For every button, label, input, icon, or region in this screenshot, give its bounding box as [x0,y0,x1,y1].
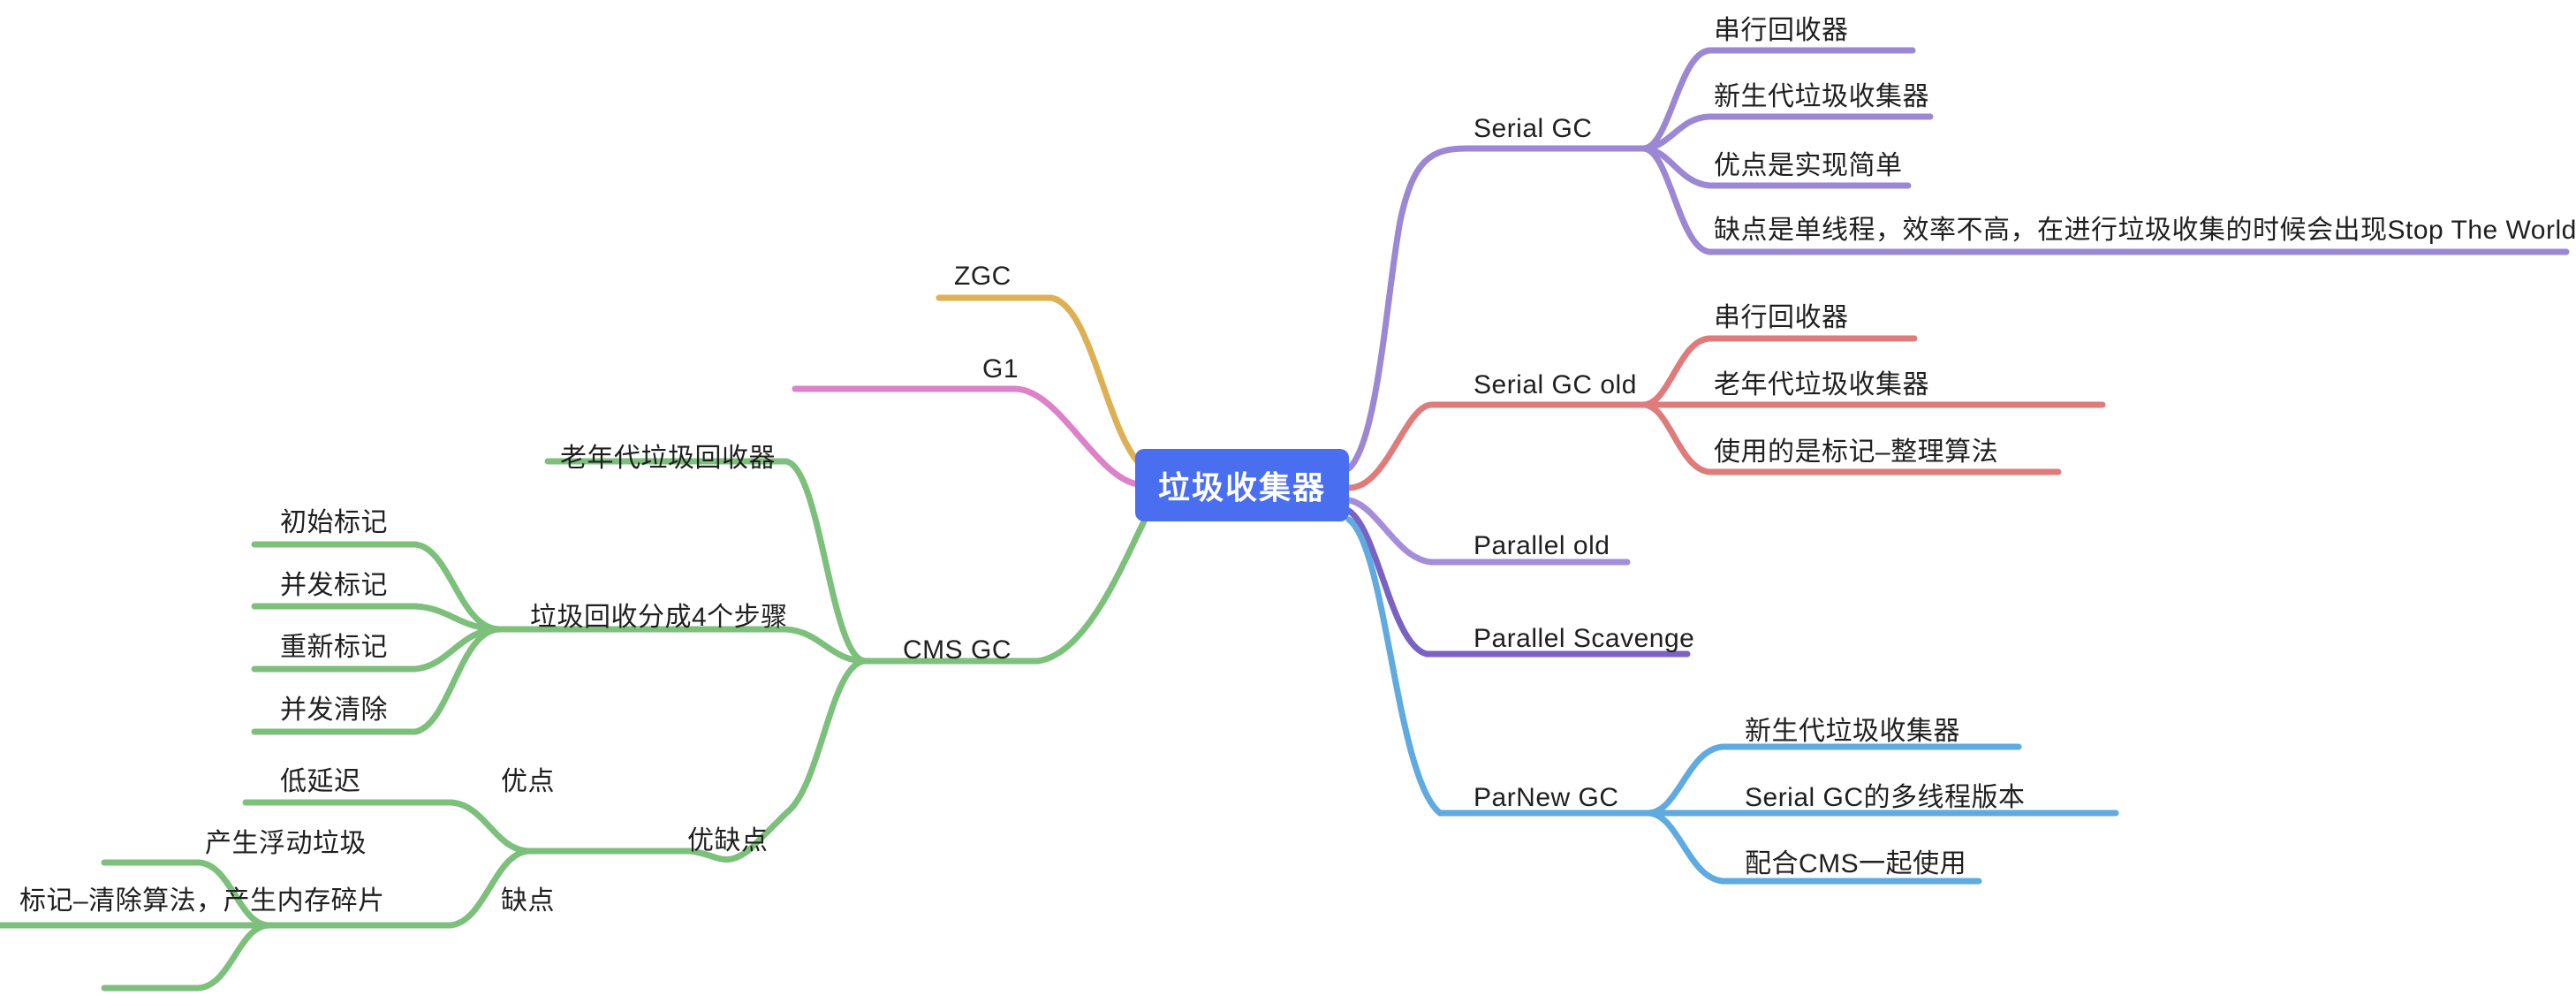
node-pros[interactable]: 优点 [501,769,555,795]
node-cms-gc-child-2[interactable]: 优缺点 [687,828,769,855]
node-parnew-gc-child-0[interactable]: 新生代垃圾收集器 [1745,718,1960,745]
edge-cons-children [0,863,269,988]
node-serial-gc-old-child-0[interactable]: 串行回收器 [1714,305,1849,331]
root-node-label: 垃圾收集器 [1158,462,1326,508]
node-parallel-old[interactable]: Parallel old [1474,533,1610,559]
node-cms-step-2[interactable]: 重新标记 [280,635,388,661]
node-serial-gc-old-child-1[interactable]: 老年代垃圾收集器 [1714,372,1929,399]
node-cons-child-0[interactable]: 产生浮动垃圾 [205,831,367,857]
node-cms-gc[interactable]: CMS GC [903,637,1011,664]
node-parnew-gc[interactable]: ParNew GC [1474,785,1619,811]
node-cons[interactable]: 缺点 [501,888,555,915]
node-serial-gc-child-0[interactable]: 串行回收器 [1714,18,1849,44]
node-cons-child-1[interactable]: 标记–清除算法，产生内存碎片 [19,888,385,915]
node-serial-gc-child-3[interactable]: 缺点是单线程，效率不高，在进行垃圾收集的时候会出现Stop The World。 [1714,217,2576,244]
node-pros-child-0[interactable]: 低延迟 [280,769,361,795]
node-g1[interactable]: G1 [982,356,1019,383]
node-serial-gc-child-2[interactable]: 优点是实现简单 [1714,153,1903,179]
node-parnew-gc-child-1[interactable]: Serial GC的多线程版本 [1745,785,2026,811]
node-cms-step-3[interactable]: 并发清除 [280,697,388,724]
root-node[interactable]: 垃圾收集器 [1135,449,1349,521]
node-parallel-scavenge[interactable]: Parallel Scavenge [1474,626,1694,652]
edge-zgc [939,298,1140,464]
node-parnew-gc-child-2[interactable]: 配合CMS一起使用 [1745,851,1966,878]
node-cms-gc-child-0[interactable]: 老年代垃圾回收器 [560,445,776,472]
node-serial-gc-child-1[interactable]: 新生代垃圾收集器 [1714,84,1929,110]
edge-g1 [795,389,1138,484]
edge-parnew-gc [1349,520,2116,881]
node-zgc[interactable]: ZGC [954,263,1011,290]
edge-cms-gc [500,461,1144,848]
node-serial-gc-old-child-2[interactable]: 使用的是标记–整理算法 [1714,439,1998,466]
node-cms-step-0[interactable]: 初始标记 [280,510,388,536]
node-cms-gc-child-1[interactable]: 垃圾回收分成4个步骤 [530,604,788,631]
node-serial-gc[interactable]: Serial GC [1474,116,1593,142]
node-cms-step-1[interactable]: 并发标记 [280,573,388,599]
node-serial-gc-old[interactable]: Serial GC old [1474,372,1637,399]
